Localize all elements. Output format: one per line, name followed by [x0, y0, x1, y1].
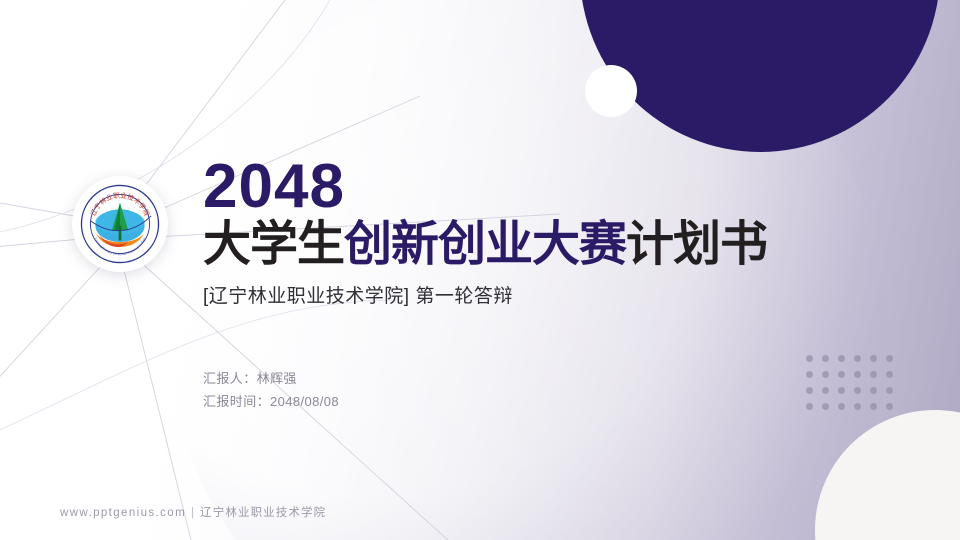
footer-separator: | [191, 507, 195, 519]
presenter-name: 汇报人：林辉强 [203, 368, 339, 391]
title-segment-1: 大学生 [203, 218, 344, 271]
page-subtitle: [辽宁林业职业技术学院] 第一轮答辩 [203, 281, 843, 308]
title-segment-2: 创新创业大赛 [344, 218, 626, 271]
small-white-circle-shape [585, 65, 637, 117]
school-emblem-icon: 辽宁林业职业技术学院 Liaoning Forestry Vocational-… [79, 183, 161, 265]
presenter-info: 汇报人：林辉强 汇报时间：2048/08/08 [203, 368, 339, 414]
page-title: 大学生创新创业大赛计划书 [203, 220, 843, 271]
footer-website[interactable]: www.pptgenius.com [60, 507, 186, 519]
light-circle-shape [815, 410, 960, 540]
dot-grid-decoration [806, 355, 902, 419]
title-block: 2048 大学生创新创业大赛计划书 [辽宁林业职业技术学院] 第一轮答辩 [203, 158, 843, 308]
presentation-date: 汇报时间：2048/08/08 [203, 391, 339, 414]
footer-organization: 辽宁林业职业技术学院 [200, 507, 326, 519]
presentation-cover-slide: 辽宁林业职业技术学院 Liaoning Forestry Vocational-… [0, 0, 960, 540]
school-logo: 辽宁林业职业技术学院 Liaoning Forestry Vocational-… [72, 176, 168, 272]
title-segment-3: 计划书 [626, 218, 767, 271]
dark-indigo-circle-shape [580, 0, 940, 152]
footer: www.pptgenius.com|辽宁林业职业技术学院 [60, 504, 326, 520]
year-heading: 2048 [203, 158, 843, 217]
